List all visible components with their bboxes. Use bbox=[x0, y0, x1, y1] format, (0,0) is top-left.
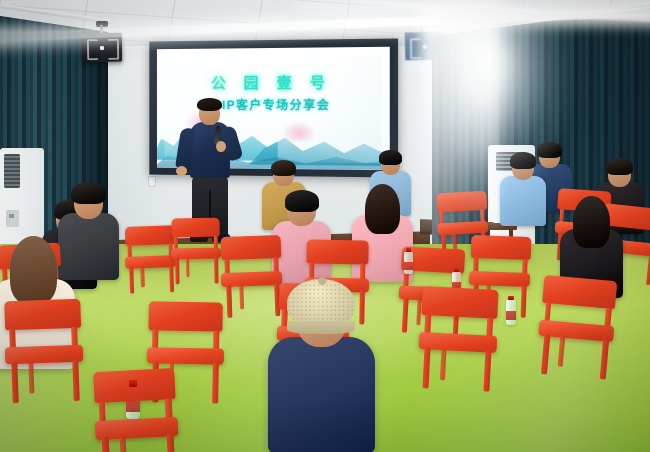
chair-leg bbox=[186, 257, 189, 277]
chair[interactable] bbox=[536, 275, 620, 383]
chair-leg bbox=[175, 257, 179, 284]
cap-band bbox=[287, 321, 355, 334]
audience-torso bbox=[268, 337, 375, 452]
chair-backrest bbox=[4, 299, 81, 331]
chair-leg bbox=[167, 433, 176, 452]
chair[interactable] bbox=[171, 218, 222, 286]
chair-leg bbox=[440, 348, 447, 380]
chair-backrest bbox=[171, 218, 220, 238]
audience-hair bbox=[606, 158, 633, 175]
audience-hair bbox=[10, 236, 58, 304]
chair-leg bbox=[141, 266, 145, 287]
chair-backrest bbox=[542, 275, 617, 310]
chair-leg bbox=[214, 257, 218, 284]
chair-backrest bbox=[221, 235, 281, 260]
chair-backrest bbox=[148, 301, 223, 331]
chair-leg bbox=[72, 360, 80, 402]
chair[interactable] bbox=[125, 225, 179, 296]
bottle-label bbox=[404, 262, 413, 270]
bottle-label bbox=[506, 311, 516, 320]
chair-leg bbox=[520, 285, 526, 318]
audience-hair bbox=[573, 196, 609, 248]
bottle-cap bbox=[508, 296, 514, 301]
audience-hair bbox=[271, 160, 296, 176]
chair-leg bbox=[11, 362, 19, 404]
chair-backrest bbox=[125, 225, 175, 246]
audience-hair bbox=[285, 190, 319, 212]
chair[interactable] bbox=[417, 286, 500, 395]
chair-leg bbox=[422, 347, 430, 389]
chair-leg bbox=[129, 267, 134, 294]
meeting-room-photo: 公 园 壹 号 VIP客户专场分享会 bbox=[0, 0, 650, 452]
chair-leg bbox=[541, 334, 550, 374]
chair-leg bbox=[240, 284, 245, 309]
chair-backrest bbox=[306, 239, 368, 264]
chair-leg bbox=[483, 350, 491, 392]
chair-backrest bbox=[421, 286, 498, 319]
audience-member bbox=[268, 282, 381, 452]
chair-leg bbox=[646, 254, 650, 286]
bottle-cap bbox=[454, 268, 459, 272]
bottle-cap bbox=[129, 380, 137, 386]
audience-hair bbox=[71, 182, 106, 204]
chair-leg bbox=[558, 336, 565, 367]
ceiling-light-core bbox=[420, 0, 500, 240]
chair-leg bbox=[599, 339, 608, 379]
chair-leg bbox=[226, 285, 232, 318]
chair-leg bbox=[28, 361, 34, 393]
chair-leg bbox=[402, 297, 409, 332]
chair[interactable] bbox=[4, 299, 86, 407]
bottle-label bbox=[126, 401, 140, 412]
chair-leg bbox=[212, 362, 219, 403]
